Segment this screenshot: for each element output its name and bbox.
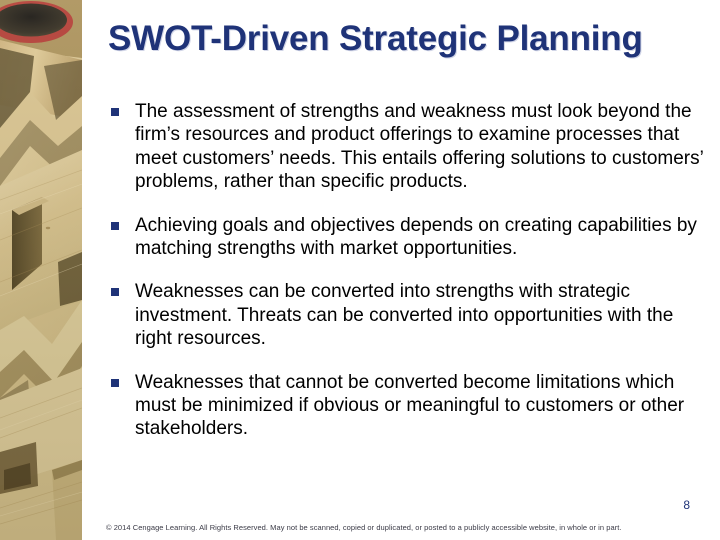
maze-illustration — [0, 0, 82, 540]
slide-body-content: The assessment of strengths and weakness… — [108, 100, 708, 441]
bullet-text: Achieving goals and objectives depends o… — [135, 214, 708, 261]
slide-canvas: SWOT-Driven Strategic Planning The asses… — [0, 0, 720, 540]
square-bullet-icon — [111, 379, 119, 387]
slide-title: SWOT-Driven Strategic Planning — [108, 18, 703, 60]
wooden-labyrinth-maze-photo — [0, 0, 82, 540]
square-bullet-icon — [111, 108, 119, 116]
square-bullet-icon — [111, 288, 119, 296]
copyright-notice: © 2014 Cengage Learning. All Rights Rese… — [106, 522, 706, 533]
bullet-item: Achieving goals and objectives depends o… — [108, 214, 708, 261]
bullet-item: Weaknesses that cannot be converted beco… — [108, 371, 708, 441]
bullet-text: Weaknesses can be converted into strengt… — [135, 280, 708, 350]
bullet-text: The assessment of strengths and weakness… — [135, 100, 708, 194]
square-bullet-icon — [111, 222, 119, 230]
bullet-item: The assessment of strengths and weakness… — [108, 100, 708, 194]
bullet-text: Weaknesses that cannot be converted beco… — [135, 371, 708, 441]
bullet-item: Weaknesses can be converted into strengt… — [108, 280, 708, 350]
page-number: 8 — [650, 498, 690, 512]
